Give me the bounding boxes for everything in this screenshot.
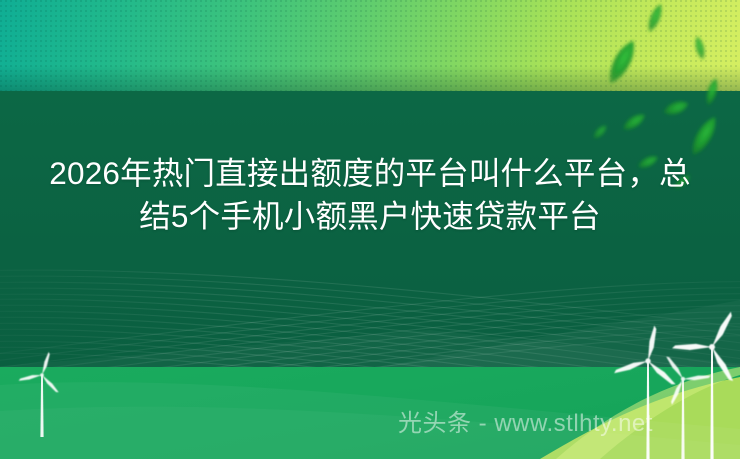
leaf-icon [604, 37, 641, 87]
page-title: 2026年热门直接出额度的平台叫什么平台，总结5个手机小额黑户快速贷款平台 [42, 152, 698, 238]
turbine-right-b [646, 342, 713, 459]
leaf-icon [693, 35, 706, 60]
leaf-icon [591, 123, 609, 141]
leaf-icon [620, 110, 647, 133]
top-band-bottom-shadow [0, 0, 740, 91]
turbine-right-c [669, 294, 740, 459]
cover-image-canvas: 2026年热门直接出额度的平台叫什么平台，总结5个手机小额黑户快速贷款平台 光头… [0, 0, 740, 459]
halftone-dot-texture [0, 0, 740, 91]
watermark-text: 光头条 - www.stlhty.net [398, 409, 653, 439]
leaf-icon [704, 77, 721, 106]
leaf-icon [662, 98, 690, 118]
top-gradient-band [0, 0, 740, 91]
turbine-left-small [17, 345, 70, 437]
leaf-icon [645, 2, 665, 33]
